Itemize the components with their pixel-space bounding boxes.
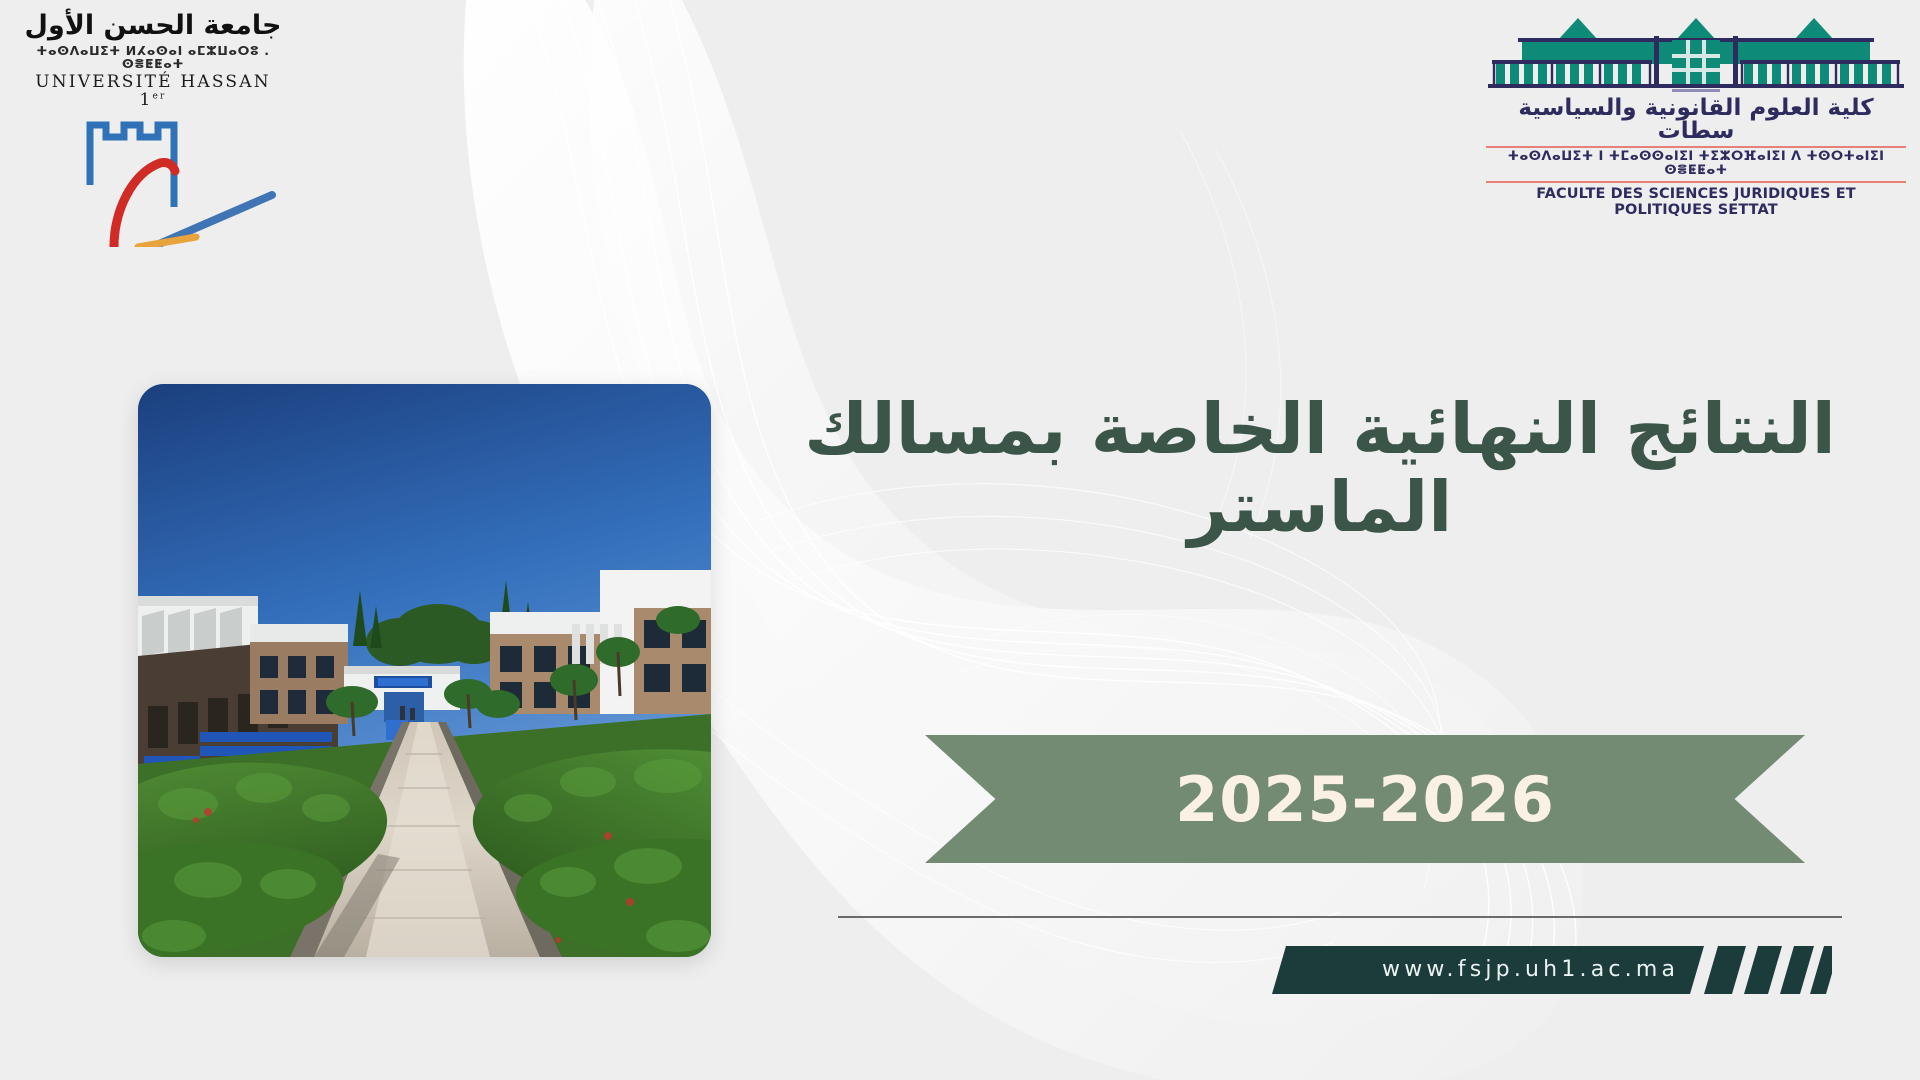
university-crest-icon bbox=[76, 107, 276, 247]
faculty-name-tifinagh: ⵜⴰⵙⴷⴰⵡⵉⵜ ⵏ ⵜⵎⴰⵙⵙⴰⵏⵉⵏ ⵜⵉⵣⵔⴼⴰⵏⵉⵏ ⴷ ⵜⵙⵔⵜⴰⵏⵉ… bbox=[1486, 150, 1906, 179]
university-name-tifinagh: ⵜⴰⵙⴷⴰⵡⵉⵜ ⵍⵃⴰⵙⴰⵏ ⴰⵎⵣⵡⴰⵔⵓ . ⵙⴻⵟⵟⴰⵜ bbox=[18, 44, 288, 71]
website-url-label[interactable]: www.fsjp.uh1.ac.ma bbox=[1382, 957, 1679, 982]
page-title-line-2: الماستر bbox=[760, 468, 1880, 546]
university-logo: جامعة الحسن الأول ⵜⴰⵙⴷⴰⵡⵉⵜ ⵍⵃⴰⵙⴰⵏ ⴰⵎⵣⵡⴰⵔ… bbox=[18, 12, 288, 257]
campus-photo-illustration bbox=[138, 384, 711, 957]
page-title-line-1: النتائج النهائية الخاصة بمسالك bbox=[760, 390, 1880, 468]
website-bar[interactable]: www.fsjp.uh1.ac.ma bbox=[1272, 946, 1832, 994]
university-name-arabic: جامعة الحسن الأول bbox=[18, 12, 288, 41]
academic-year-ribbon: 2025-2026 bbox=[925, 735, 1805, 863]
page-title: النتائج النهائية الخاصة بمسالك الماستر bbox=[760, 390, 1880, 547]
campus-photo bbox=[138, 384, 711, 957]
academic-year-label: 2025-2026 bbox=[1175, 763, 1555, 836]
university-name-french-suffix: er bbox=[153, 91, 167, 101]
faculty-logo-rule-bottom bbox=[1486, 181, 1906, 183]
university-logo-text: جامعة الحسن الأول ⵜⴰⵙⴷⴰⵡⵉⵜ ⵍⵃⴰⵙⴰⵏ ⴰⵎⵣⵡⴰⵔ… bbox=[18, 12, 288, 109]
faculty-logo-rule-top bbox=[1486, 146, 1906, 148]
divider-line bbox=[838, 916, 1842, 918]
faculty-logo: كلية العلوم القانونية والسياسية سطات ⵜⴰⵙ… bbox=[1486, 10, 1906, 162]
faculty-name-arabic: كلية العلوم القانونية والسياسية سطات bbox=[1486, 97, 1906, 143]
faculty-building-icon bbox=[1486, 10, 1906, 96]
university-name-french: UNIVERSITÉ HASSAN 1er bbox=[18, 73, 288, 109]
faculty-name-french: FACULTE DES SCIENCES JURIDIQUES ET POLIT… bbox=[1486, 186, 1906, 218]
